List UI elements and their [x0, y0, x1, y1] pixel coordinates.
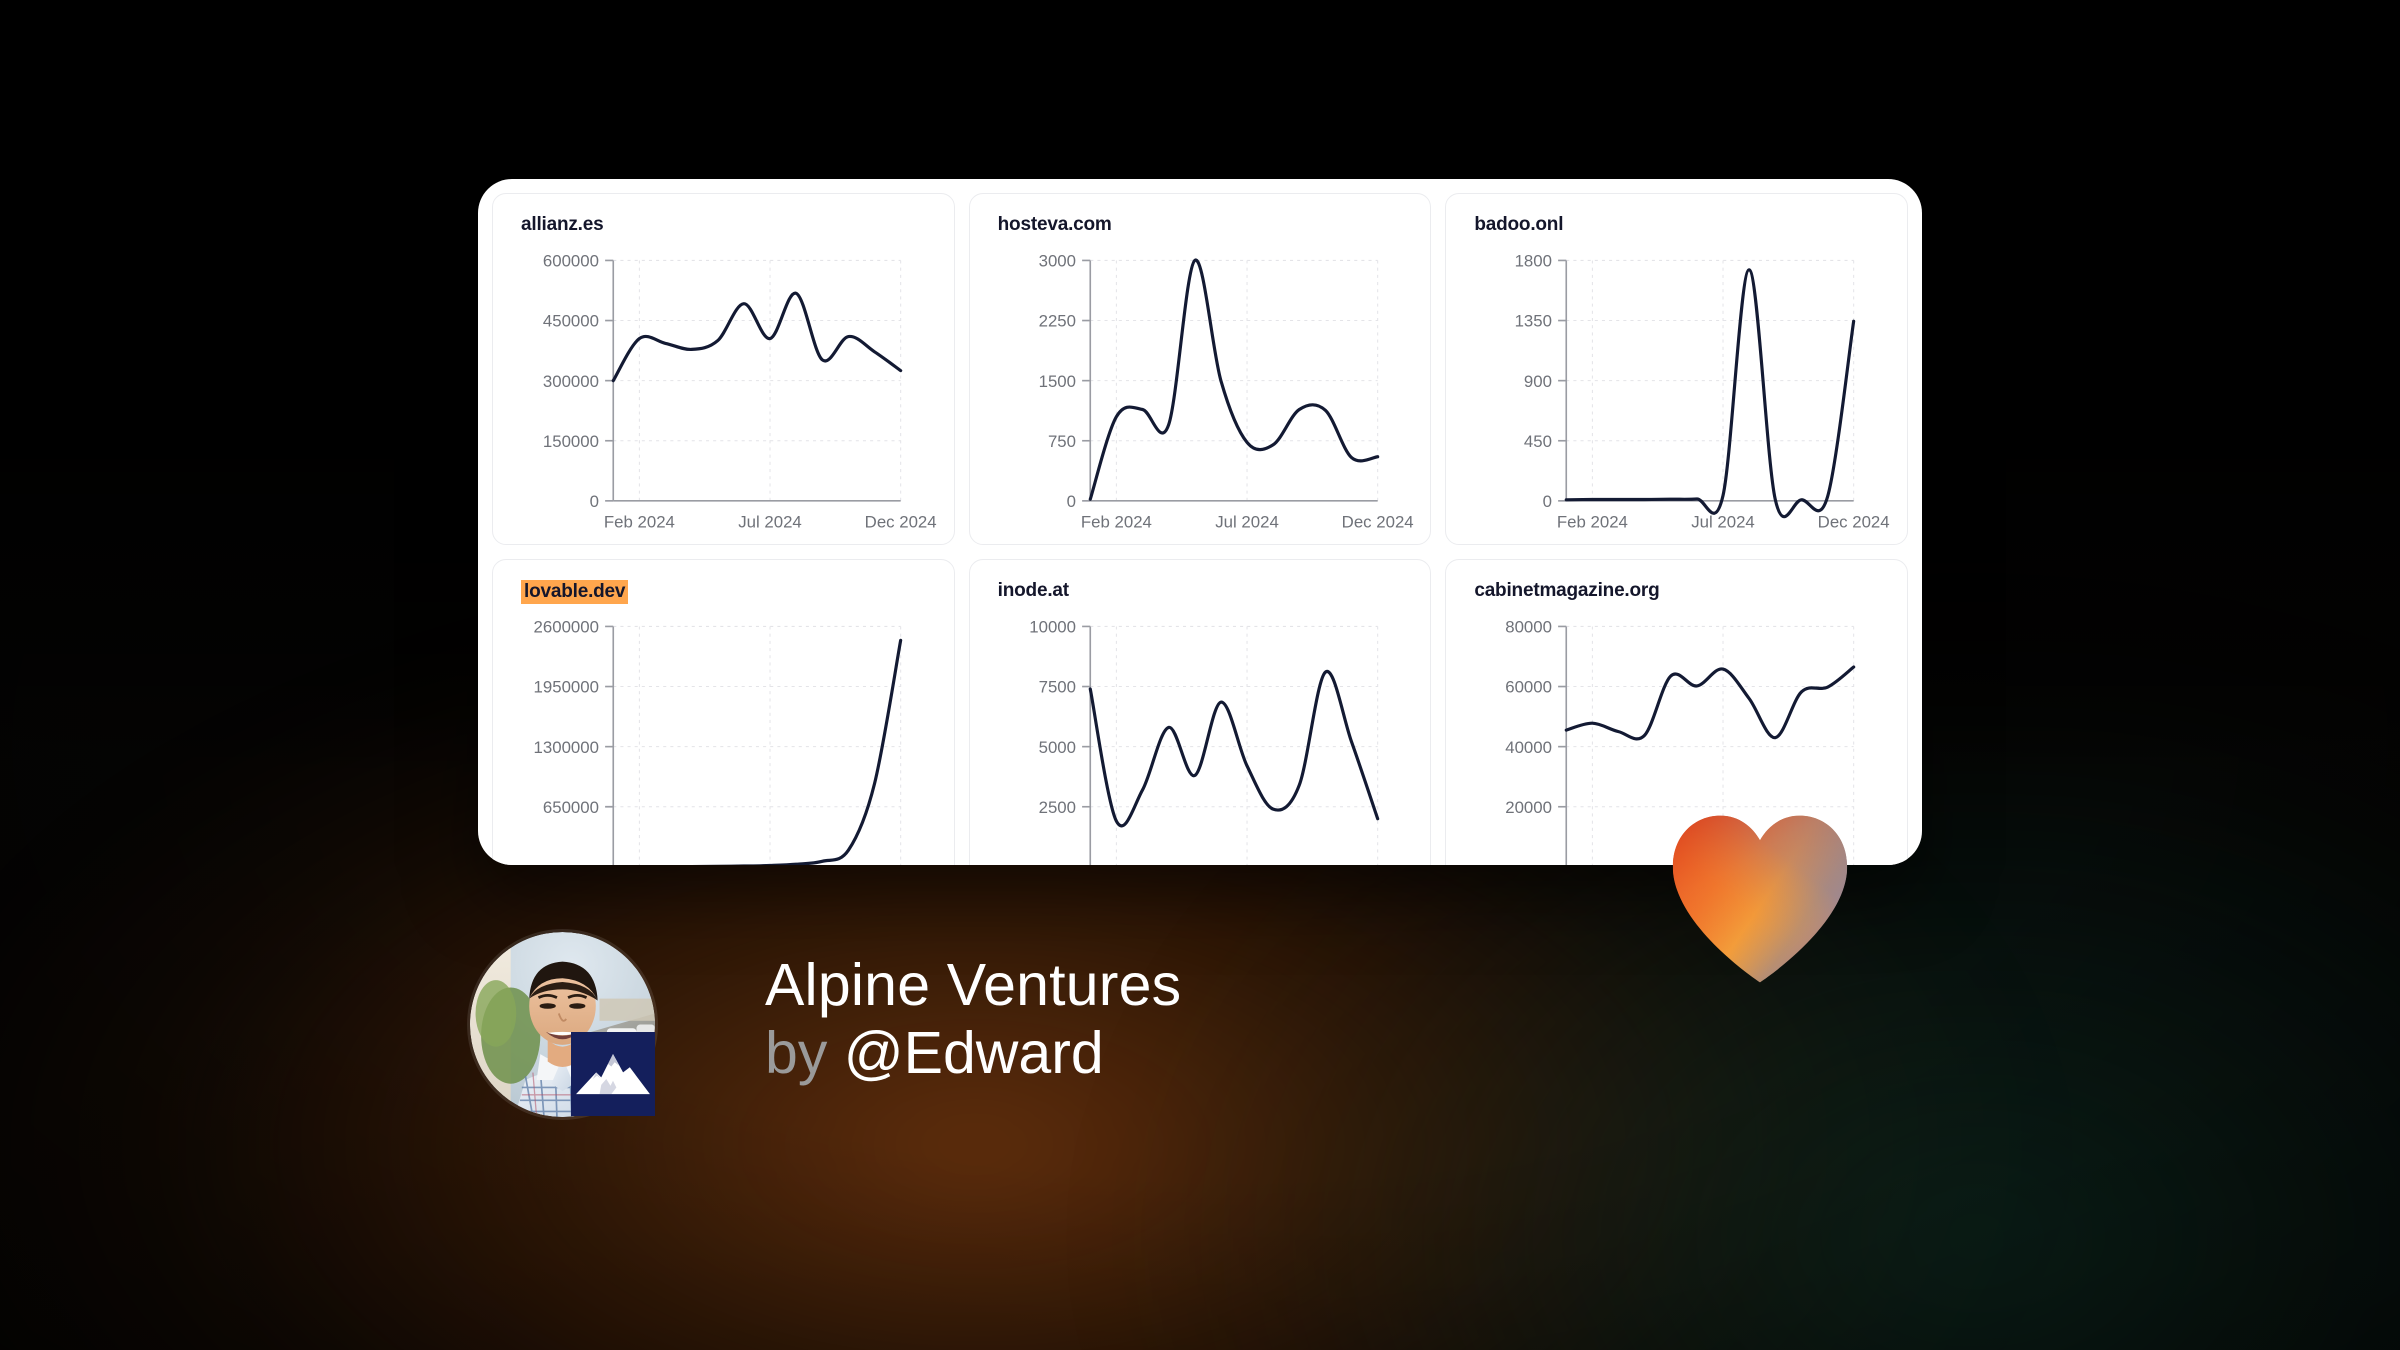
y-tick-label: 80000 — [1506, 618, 1553, 637]
y-tick-label: 60000 — [1506, 678, 1553, 697]
y-tick-label: 650000 — [543, 798, 599, 817]
x-tick-label: Jul 2024 — [738, 513, 802, 532]
y-tick-label: 5000 — [1038, 738, 1075, 757]
dashboard-window: allianz.es0150000300000450000600000Feb 2… — [478, 179, 1922, 865]
line-chart: 0150000300000450000600000Feb 2024Jul 202… — [493, 244, 954, 544]
plot-area: 650000130000019500002600000Feb 2024Jul 2… — [493, 610, 954, 865]
series-line — [613, 293, 900, 381]
chart-card[interactable]: inode.at25005000750010000Feb 2024Jul 202… — [969, 559, 1432, 865]
attribution-text: Alpine Ventures by @Edward — [765, 956, 1181, 1093]
y-tick-label: 3000 — [1038, 252, 1075, 271]
byline: by @Edward — [765, 1015, 1181, 1093]
chart-title: inode.at — [998, 580, 1069, 602]
y-tick-label: 450000 — [543, 312, 599, 331]
y-tick-label: 1300000 — [534, 738, 599, 757]
y-tick-label: 1350 — [1515, 312, 1552, 331]
plot-area: 0750150022503000Feb 2024Jul 2024Dec 2024 — [970, 244, 1431, 544]
y-tick-label: 450 — [1524, 432, 1552, 451]
y-tick-label: 0 — [1543, 492, 1552, 511]
x-tick-label: Jul 2024 — [1215, 513, 1279, 532]
y-tick-label: 300000 — [543, 372, 599, 391]
org-name: Alpine Ventures — [765, 956, 1181, 1015]
y-tick-label: 1800 — [1515, 252, 1552, 271]
plot-area: 0150000300000450000600000Feb 2024Jul 202… — [493, 244, 954, 544]
series-line — [1090, 260, 1377, 499]
y-tick-label: 20000 — [1506, 798, 1553, 817]
y-tick-label: 150000 — [543, 432, 599, 451]
line-chart: 25005000750010000Feb 2024Jul 2024Dec 202… — [970, 610, 1431, 865]
series-line — [1090, 671, 1377, 825]
series-line — [1567, 667, 1854, 739]
heart-icon — [1665, 808, 1855, 988]
line-chart: 045090013501800Feb 2024Jul 2024Dec 2024 — [1446, 244, 1907, 544]
series-line — [613, 640, 900, 865]
y-tick-label: 750 — [1048, 432, 1076, 451]
x-tick-label: Dec 2024 — [1341, 513, 1413, 532]
chart-card[interactable]: hosteva.com0750150022503000Feb 2024Jul 2… — [969, 193, 1432, 545]
plot-area: 25005000750010000Feb 2024Jul 2024Dec 202… — [970, 610, 1431, 865]
chart-title: lovable.dev — [521, 580, 628, 604]
mountain-icon — [571, 1032, 655, 1116]
chart-title: hosteva.com — [998, 214, 1112, 236]
footer-attribution: Alpine Ventures by @Edward — [470, 932, 1181, 1117]
x-tick-label: Dec 2024 — [1818, 513, 1890, 532]
x-tick-label: Feb 2024 — [1081, 513, 1152, 532]
chart-card[interactable]: lovable.dev650000130000019500002600000Fe… — [492, 559, 955, 865]
avatar — [470, 932, 655, 1117]
chart-card[interactable]: allianz.es0150000300000450000600000Feb 2… — [492, 193, 955, 545]
y-tick-label: 2600000 — [534, 618, 599, 637]
y-tick-label: 7500 — [1038, 678, 1075, 697]
y-tick-label: 600000 — [543, 252, 599, 271]
y-tick-label: 0 — [1066, 492, 1075, 511]
y-tick-label: 10000 — [1029, 618, 1076, 637]
by-word: by — [765, 1020, 827, 1086]
chart-grid: allianz.es0150000300000450000600000Feb 2… — [478, 179, 1922, 865]
y-tick-label: 0 — [590, 492, 599, 511]
author-handle: @Edward — [844, 1020, 1104, 1086]
x-tick-label: Feb 2024 — [604, 513, 675, 532]
chart-title: allianz.es — [521, 214, 604, 236]
y-tick-label: 2500 — [1038, 798, 1075, 817]
y-tick-label: 1500 — [1038, 372, 1075, 391]
y-tick-label: 2250 — [1038, 312, 1075, 331]
plot-area: 045090013501800Feb 2024Jul 2024Dec 2024 — [1446, 244, 1907, 544]
line-chart: 650000130000019500002600000Feb 2024Jul 2… — [493, 610, 954, 865]
chart-title: badoo.onl — [1474, 214, 1563, 236]
y-tick-label: 1950000 — [534, 678, 599, 697]
x-tick-label: Jul 2024 — [1692, 513, 1756, 532]
y-tick-label: 40000 — [1506, 738, 1553, 757]
y-tick-label: 900 — [1524, 372, 1552, 391]
chart-card[interactable]: badoo.onl045090013501800Feb 2024Jul 2024… — [1445, 193, 1908, 545]
chart-title: cabinetmagazine.org — [1474, 580, 1659, 602]
x-tick-label: Dec 2024 — [865, 513, 937, 532]
x-tick-label: Feb 2024 — [1557, 513, 1628, 532]
series-line — [1567, 270, 1854, 517]
line-chart: 0750150022503000Feb 2024Jul 2024Dec 2024 — [970, 244, 1431, 544]
